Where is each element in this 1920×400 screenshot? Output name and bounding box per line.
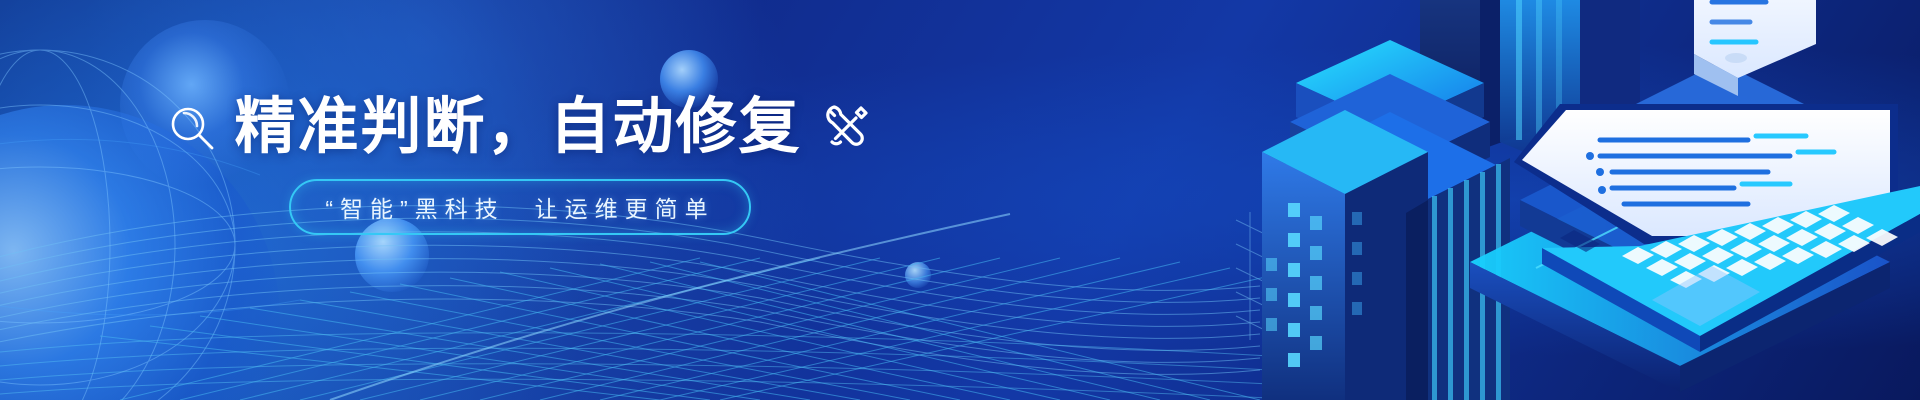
isometric-city-laptop-illustration [0,0,1920,400]
promo-banner: 精准判断，自动修复 “智能”黑科技 让运维更简单 [0,0,1920,400]
office-tower-windows [1262,110,1428,400]
